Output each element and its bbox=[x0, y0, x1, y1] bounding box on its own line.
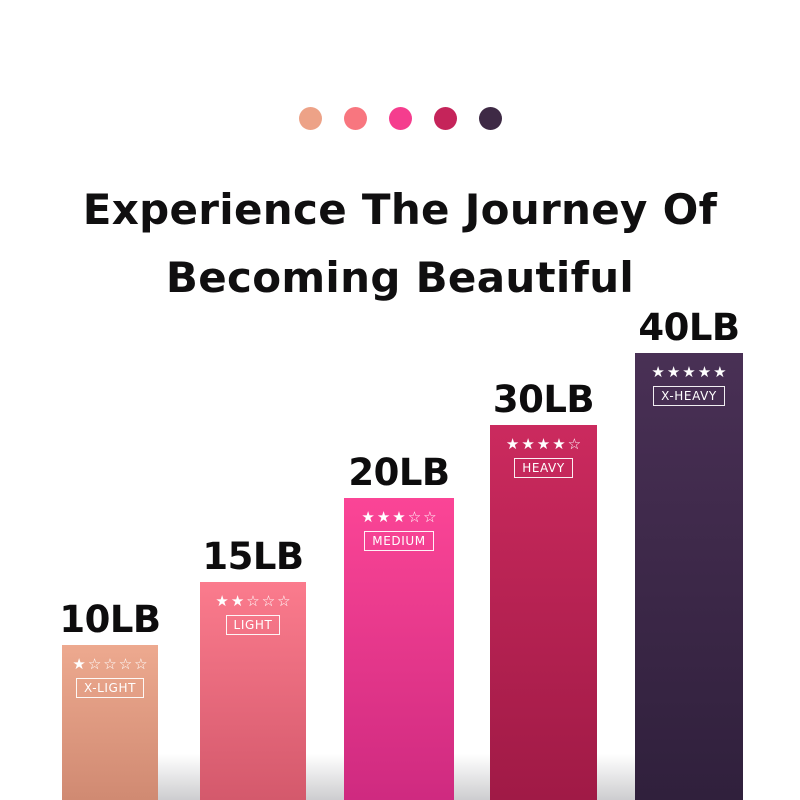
resistance-band-bar-chart: 10LB★☆☆☆☆X-LIGHT15LB★★☆☆☆LIGHT20LB★★★☆☆M… bbox=[0, 0, 800, 800]
bar-gap-shading bbox=[158, 754, 200, 800]
star-empty-icon: ☆ bbox=[103, 657, 116, 672]
bar-meta: ★★★★★X-HEAVY bbox=[635, 365, 743, 406]
star-filled-icon: ★ bbox=[72, 657, 85, 672]
bar-15lb[interactable]: 15LB★★☆☆☆LIGHT bbox=[200, 582, 306, 800]
bar-meta: ★☆☆☆☆X-LIGHT bbox=[62, 657, 158, 698]
star-filled-icon: ★ bbox=[651, 365, 664, 380]
star-filled-icon: ★ bbox=[552, 437, 565, 452]
tier-badge: MEDIUM bbox=[364, 531, 433, 551]
star-filled-icon: ★ bbox=[537, 437, 550, 452]
bar-meta: ★★☆☆☆LIGHT bbox=[200, 594, 306, 635]
star-filled-icon: ★ bbox=[392, 510, 405, 525]
star-rating: ★★★☆☆ bbox=[361, 510, 436, 525]
star-filled-icon: ★ bbox=[713, 365, 726, 380]
bar-value-label: 15LB bbox=[202, 535, 303, 578]
star-empty-icon: ☆ bbox=[246, 594, 259, 609]
product-infographic: Experience The Journey Of Becoming Beaut… bbox=[0, 0, 800, 800]
bar-fill: ★★★★☆HEAVY bbox=[490, 425, 597, 800]
star-empty-icon: ☆ bbox=[134, 657, 147, 672]
bar-10lb[interactable]: 10LB★☆☆☆☆X-LIGHT bbox=[62, 645, 158, 800]
bar-gap-shading bbox=[454, 754, 490, 800]
star-rating: ★★☆☆☆ bbox=[215, 594, 290, 609]
bar-meta: ★★★★☆HEAVY bbox=[490, 437, 597, 478]
bar-value-label: 20LB bbox=[348, 451, 449, 494]
tier-badge: LIGHT bbox=[226, 615, 281, 635]
star-filled-icon: ★ bbox=[682, 365, 695, 380]
star-filled-icon: ★ bbox=[215, 594, 228, 609]
bar-fill: ★★☆☆☆LIGHT bbox=[200, 582, 306, 800]
tier-badge: HEAVY bbox=[514, 458, 573, 478]
star-rating: ★☆☆☆☆ bbox=[72, 657, 147, 672]
bar-gap-shading bbox=[597, 754, 635, 800]
bar-gap-shading bbox=[306, 754, 344, 800]
star-empty-icon: ☆ bbox=[423, 510, 436, 525]
star-empty-icon: ☆ bbox=[277, 594, 290, 609]
star-empty-icon: ☆ bbox=[262, 594, 275, 609]
star-filled-icon: ★ bbox=[698, 365, 711, 380]
bar-value-label: 30LB bbox=[493, 378, 594, 421]
star-empty-icon: ☆ bbox=[88, 657, 101, 672]
bar-meta: ★★★☆☆MEDIUM bbox=[344, 510, 454, 551]
bar-30lb[interactable]: 30LB★★★★☆HEAVY bbox=[490, 425, 597, 800]
star-empty-icon: ☆ bbox=[119, 657, 132, 672]
star-rating: ★★★★☆ bbox=[506, 437, 581, 452]
star-rating: ★★★★★ bbox=[651, 365, 726, 380]
star-filled-icon: ★ bbox=[231, 594, 244, 609]
bar-fill: ★☆☆☆☆X-LIGHT bbox=[62, 645, 158, 800]
bar-value-label: 10LB bbox=[59, 598, 160, 641]
tier-badge: X-HEAVY bbox=[653, 386, 725, 406]
bar-value-label: 40LB bbox=[638, 306, 739, 349]
bar-40lb[interactable]: 40LB★★★★★X-HEAVY bbox=[635, 353, 743, 800]
tier-badge: X-LIGHT bbox=[76, 678, 144, 698]
star-filled-icon: ★ bbox=[361, 510, 374, 525]
star-filled-icon: ★ bbox=[377, 510, 390, 525]
star-filled-icon: ★ bbox=[506, 437, 519, 452]
star-filled-icon: ★ bbox=[667, 365, 680, 380]
star-empty-icon: ☆ bbox=[408, 510, 421, 525]
bar-20lb[interactable]: 20LB★★★☆☆MEDIUM bbox=[344, 498, 454, 800]
bar-fill: ★★★★★X-HEAVY bbox=[635, 353, 743, 800]
star-filled-icon: ★ bbox=[521, 437, 534, 452]
star-empty-icon: ☆ bbox=[568, 437, 581, 452]
bar-fill: ★★★☆☆MEDIUM bbox=[344, 498, 454, 800]
